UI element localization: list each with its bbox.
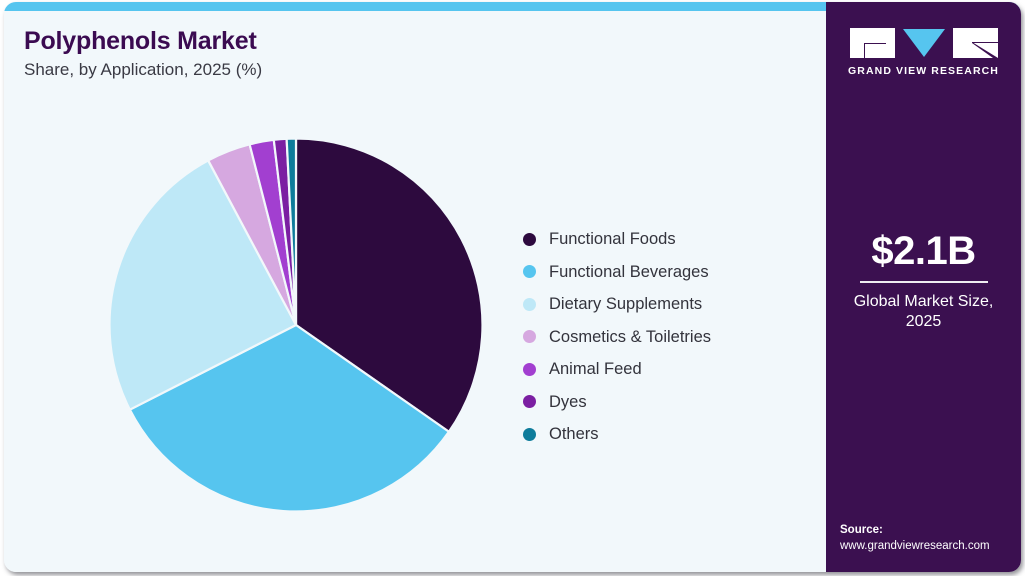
- legend-color-swatch-icon: [523, 233, 536, 246]
- legend-color-swatch-icon: [523, 330, 536, 343]
- legend-item[interactable]: Functional Foods: [523, 223, 711, 256]
- legend-item-label: Dietary Supplements: [549, 296, 702, 313]
- chart-legend: Functional FoodsFunctional BeveragesDiet…: [523, 223, 711, 451]
- pie-chart: [109, 138, 483, 512]
- legend-color-swatch-icon: [523, 428, 536, 441]
- legend-item[interactable]: Animal Feed: [523, 353, 711, 386]
- legend-item-label: Functional Beverages: [549, 264, 709, 281]
- source-footer: Source: www.grandviewresearch.com: [840, 522, 1021, 555]
- legend-color-swatch-icon: [523, 298, 536, 311]
- legend-item-label: Dyes: [549, 394, 587, 411]
- stat-divider: [860, 281, 988, 283]
- legend-item-label: Others: [549, 426, 599, 443]
- market-size-label: Global Market Size, 2025: [826, 292, 1021, 333]
- legend-item[interactable]: Cosmetics & Toiletries: [523, 321, 711, 354]
- page-title: Polyphenols Market: [24, 27, 262, 56]
- legend-item[interactable]: Others: [523, 418, 711, 451]
- title-block: Polyphenols Market Share, by Application…: [24, 27, 262, 80]
- legend-item[interactable]: Dyes: [523, 386, 711, 419]
- page-subtitle: Share, by Application, 2025 (%): [24, 60, 262, 80]
- source-url: www.grandviewresearch.com: [840, 538, 1021, 555]
- gvr-logo-icon: [850, 28, 998, 58]
- legend-item-label: Animal Feed: [549, 361, 642, 378]
- legend-color-swatch-icon: [523, 265, 536, 278]
- infographic-canvas: Polyphenols Market Share, by Application…: [0, 0, 1025, 576]
- market-size-stat: $2.1B Global Market Size, 2025: [826, 230, 1021, 333]
- brand-logo-text: GRAND VIEW RESEARCH: [826, 65, 1021, 77]
- infographic-card: Polyphenols Market Share, by Application…: [4, 2, 1021, 572]
- brand-logo: GRAND VIEW RESEARCH: [826, 28, 1021, 77]
- brand-side-panel: GRAND VIEW RESEARCH $2.1B Global Market …: [826, 2, 1021, 572]
- legend-color-swatch-icon: [523, 363, 536, 376]
- legend-item-label: Functional Foods: [549, 231, 676, 248]
- legend-item[interactable]: Dietary Supplements: [523, 288, 711, 321]
- legend-item[interactable]: Functional Beverages: [523, 256, 711, 289]
- legend-item-label: Cosmetics & Toiletries: [549, 329, 711, 346]
- pie-chart-svg: [109, 138, 483, 512]
- legend-color-swatch-icon: [523, 395, 536, 408]
- source-label: Source:: [840, 522, 1021, 539]
- market-size-value: $2.1B: [826, 230, 1021, 272]
- chart-main-area: Polyphenols Market Share, by Application…: [4, 11, 822, 572]
